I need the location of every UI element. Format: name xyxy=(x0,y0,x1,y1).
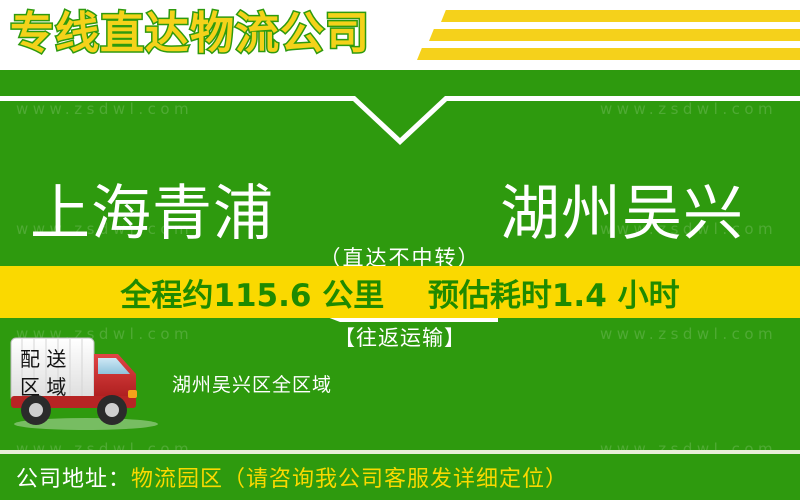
decorative-stripes xyxy=(415,8,800,64)
destination-city: 湖州吴兴 xyxy=(500,170,744,258)
chevron-divider xyxy=(0,96,800,146)
footer-bar: 公司地址：物流园区（请咨询我公司客服发详细定位） xyxy=(0,454,800,500)
address-label: 公司地址： xyxy=(16,467,131,492)
stripe-3 xyxy=(417,48,800,60)
metrics-text: 全程约115.6 公里 预估耗时1.4 小时 xyxy=(120,270,679,315)
logistics-banner: 专线直达物流公司 www.zsdwl.com www.zsdwl.com www… xyxy=(0,0,800,500)
duration-text: 预估耗时1.4 小时 xyxy=(428,278,680,314)
header-bar: 专线直达物流公司 xyxy=(0,0,800,70)
watermark-text: www.zsdwl.com xyxy=(600,325,777,343)
stripe-1 xyxy=(441,10,800,22)
truck-label-line2: 区 域 xyxy=(20,375,66,399)
origin-city: 上海青浦 xyxy=(30,170,274,258)
page-title: 专线直达物流公司 xyxy=(10,6,370,62)
main-green-panel: www.zsdwl.com www.zsdwl.com www.zsdwl.co… xyxy=(0,70,800,452)
truck-label-line1: 配 送 xyxy=(20,347,66,371)
delivery-area-text: 湖州吴兴区全区域 xyxy=(172,370,332,397)
stripe-2 xyxy=(429,29,800,41)
chevron-down-icon xyxy=(0,96,800,146)
route-note-bottom: 【往返运输】 xyxy=(300,322,500,352)
address-value: 物流园区（请咨询我公司客服发详细定位） xyxy=(131,467,568,492)
distance-text: 全程约115.6 公里 xyxy=(120,278,384,314)
company-address: 公司地址：物流园区（请咨询我公司客服发详细定位） xyxy=(0,461,568,493)
metrics-bar: 全程约115.6 公里 预估耗时1.4 小时 xyxy=(0,266,800,318)
route-row: 上海青浦 湖州吴兴 （直达不中转） 【往返运输】 xyxy=(0,170,800,260)
delivery-truck-icon: 配 送 区 域 xyxy=(8,332,168,432)
